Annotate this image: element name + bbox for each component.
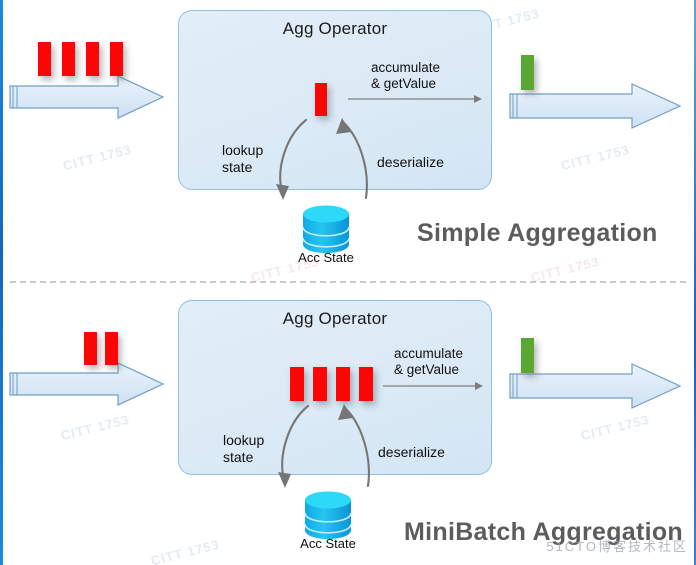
lookup-state-curve-minibatch bbox=[268, 404, 320, 498]
agg-operator-label: Agg Operator bbox=[179, 19, 491, 39]
accumulate-line-1: accumulate bbox=[371, 60, 440, 76]
accumulate-arrow-simple bbox=[348, 92, 484, 106]
deserialize-curve-minibatch bbox=[332, 404, 387, 498]
buffered-record-bar bbox=[290, 367, 304, 401]
buffered-record-bar bbox=[359, 367, 373, 401]
buffered-record-bar bbox=[315, 83, 327, 116]
lookup-state-curve-simple bbox=[266, 118, 318, 210]
acc-state-cylinder-minibatch: Acc State bbox=[299, 490, 357, 542]
record-bar bbox=[84, 332, 97, 365]
lookup-state-label-simple: lookup state bbox=[222, 142, 263, 176]
record-bar bbox=[38, 42, 51, 76]
input-stream-arrow-minibatch bbox=[8, 362, 168, 407]
lookup-line-1: lookup bbox=[222, 142, 263, 159]
agg-operator-label: Agg Operator bbox=[179, 309, 491, 329]
accumulate-arrow-minibatch bbox=[383, 379, 485, 393]
diagram-canvas: CITT 1753 CITT 1753 CITT 1753 CITT 1753 … bbox=[0, 0, 696, 565]
accumulate-line-1: accumulate bbox=[394, 346, 463, 362]
output-record-bar bbox=[521, 55, 534, 90]
lookup-state-label-minibatch: lookup state bbox=[223, 432, 264, 466]
record-bar bbox=[105, 332, 118, 365]
lookup-line-2: state bbox=[223, 449, 264, 466]
background-watermark: CITT 1753 bbox=[61, 142, 133, 174]
site-watermark: 51CTO博客技术社区 bbox=[546, 536, 688, 555]
acc-state-label-simple: Acc State bbox=[298, 250, 354, 265]
acc-state-label-minibatch: Acc State bbox=[300, 536, 356, 551]
lookup-line-2: state bbox=[222, 159, 263, 176]
record-bar bbox=[86, 42, 99, 76]
deserialize-label-simple: deserialize bbox=[377, 154, 444, 171]
accumulate-line-2: & getValue bbox=[394, 362, 463, 378]
page-left-border bbox=[0, 0, 3, 565]
buffered-record-bar bbox=[313, 367, 327, 401]
output-stream-arrow-simple bbox=[508, 82, 686, 130]
section-headline-simple: Simple Aggregation bbox=[417, 219, 658, 248]
accumulate-line-2: & getValue bbox=[371, 76, 440, 92]
section-divider bbox=[10, 281, 686, 283]
acc-state-cylinder-simple: Acc State bbox=[297, 204, 355, 256]
output-stream-arrow-minibatch bbox=[508, 362, 686, 410]
background-watermark: CITT 1753 bbox=[59, 412, 131, 444]
accumulate-label-simple: accumulate & getValue bbox=[371, 60, 440, 92]
buffered-record-bar bbox=[336, 367, 350, 401]
accumulate-label-minibatch: accumulate & getValue bbox=[394, 346, 463, 378]
background-watermark: CITT 1753 bbox=[579, 412, 651, 444]
record-bar bbox=[62, 42, 75, 76]
background-watermark: CITT 1753 bbox=[559, 142, 631, 174]
deserialize-label-minibatch: deserialize bbox=[378, 444, 445, 461]
record-bar bbox=[110, 42, 123, 76]
output-record-bar bbox=[521, 338, 534, 373]
input-stream-arrow-simple bbox=[8, 75, 168, 120]
lookup-line-1: lookup bbox=[223, 432, 264, 449]
deserialize-curve-simple bbox=[330, 118, 385, 210]
background-watermark: CITT 1753 bbox=[149, 537, 221, 565]
